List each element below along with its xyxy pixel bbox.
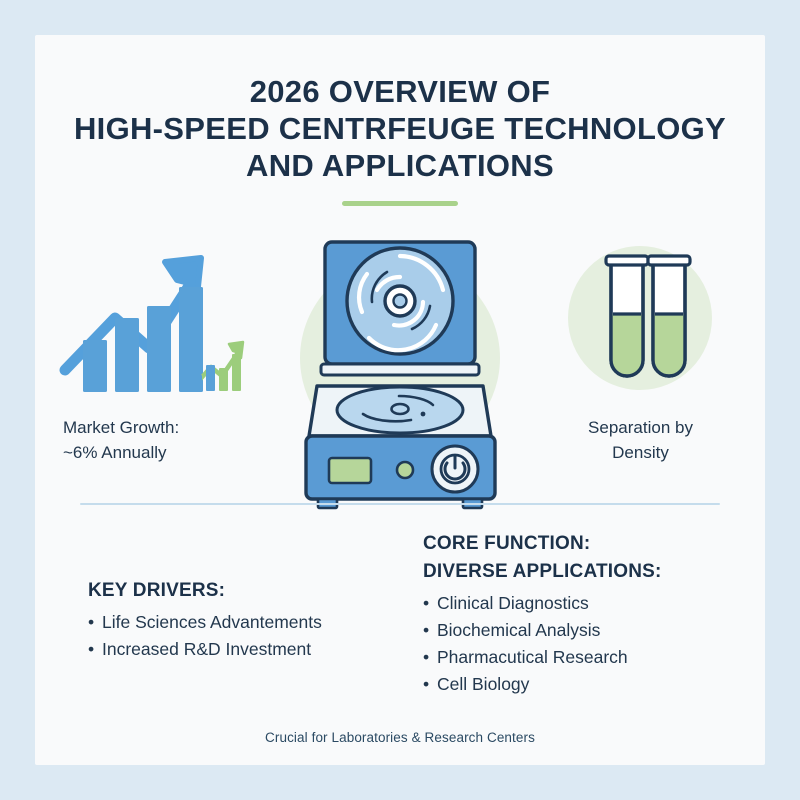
- diverse-applications-heading: DIVERSE APPLICATIONS:: [423, 558, 743, 586]
- panel-market-growth: Market Growth: ~6% Annually: [53, 230, 268, 490]
- page-title: 2026 OVERVIEW OF HIGH-SPEED CENTRFEUGE T…: [35, 73, 765, 184]
- test-tubes-icon: [533, 230, 748, 415]
- core-function-heading: CORE FUNCTION:: [423, 530, 743, 558]
- list-item: Increased R&D Investment: [88, 636, 418, 663]
- title-accent-rule: [342, 201, 458, 206]
- infographic-card: 2026 OVERVIEW OF HIGH-SPEED CENTRFEUGE T…: [35, 35, 765, 765]
- centrifuge-machine-icon: [273, 230, 528, 480]
- feature-panels: Market Growth: ~6% Annually: [35, 230, 765, 490]
- separation-caption-line-2: Density: [533, 440, 748, 465]
- separation-caption-line-1: Separation by: [533, 415, 748, 440]
- column-applications: CORE FUNCTION: DIVERSE APPLICATIONS: Cli…: [423, 530, 743, 698]
- key-drivers-heading: KEY DRIVERS:: [88, 577, 418, 605]
- growth-caption-line-1: Market Growth:: [63, 415, 268, 440]
- list-item: Pharmacutical Research: [423, 644, 743, 671]
- separation-caption: Separation by Density: [533, 415, 748, 465]
- list-item: Cell Biology: [423, 671, 743, 698]
- key-drivers-list: Life Sciences Advantements Increased R&D…: [88, 609, 418, 663]
- growth-caption: Market Growth: ~6% Annually: [53, 415, 268, 465]
- title-line-3: AND APPLICATIONS: [35, 147, 765, 184]
- detail-columns: KEY DRIVERS: Life Sciences Advantements …: [35, 530, 765, 730]
- applications-list: Clinical Diagnostics Biochemical Analysi…: [423, 590, 743, 698]
- column-key-drivers: KEY DRIVERS: Life Sciences Advantements …: [88, 530, 418, 663]
- panel-separation: Separation by Density: [533, 230, 748, 490]
- footer-note: Crucial for Laboratories & Research Cent…: [35, 730, 765, 745]
- growth-caption-line-2: ~6% Annually: [63, 440, 268, 465]
- title-line-1: 2026 OVERVIEW OF: [35, 73, 765, 110]
- panel-centrifuge: [273, 230, 528, 490]
- section-divider: [80, 503, 720, 505]
- title-line-2: HIGH-SPEED CENTRFEUGE TECHNOLOGY: [35, 110, 765, 147]
- growth-bar-chart-arrow-icon: [53, 230, 268, 415]
- list-item: Clinical Diagnostics: [423, 590, 743, 617]
- infographic-stage: 2026 OVERVIEW OF HIGH-SPEED CENTRFEUGE T…: [0, 0, 800, 800]
- list-item: Biochemical Analysis: [423, 617, 743, 644]
- list-item: Life Sciences Advantements: [88, 609, 418, 636]
